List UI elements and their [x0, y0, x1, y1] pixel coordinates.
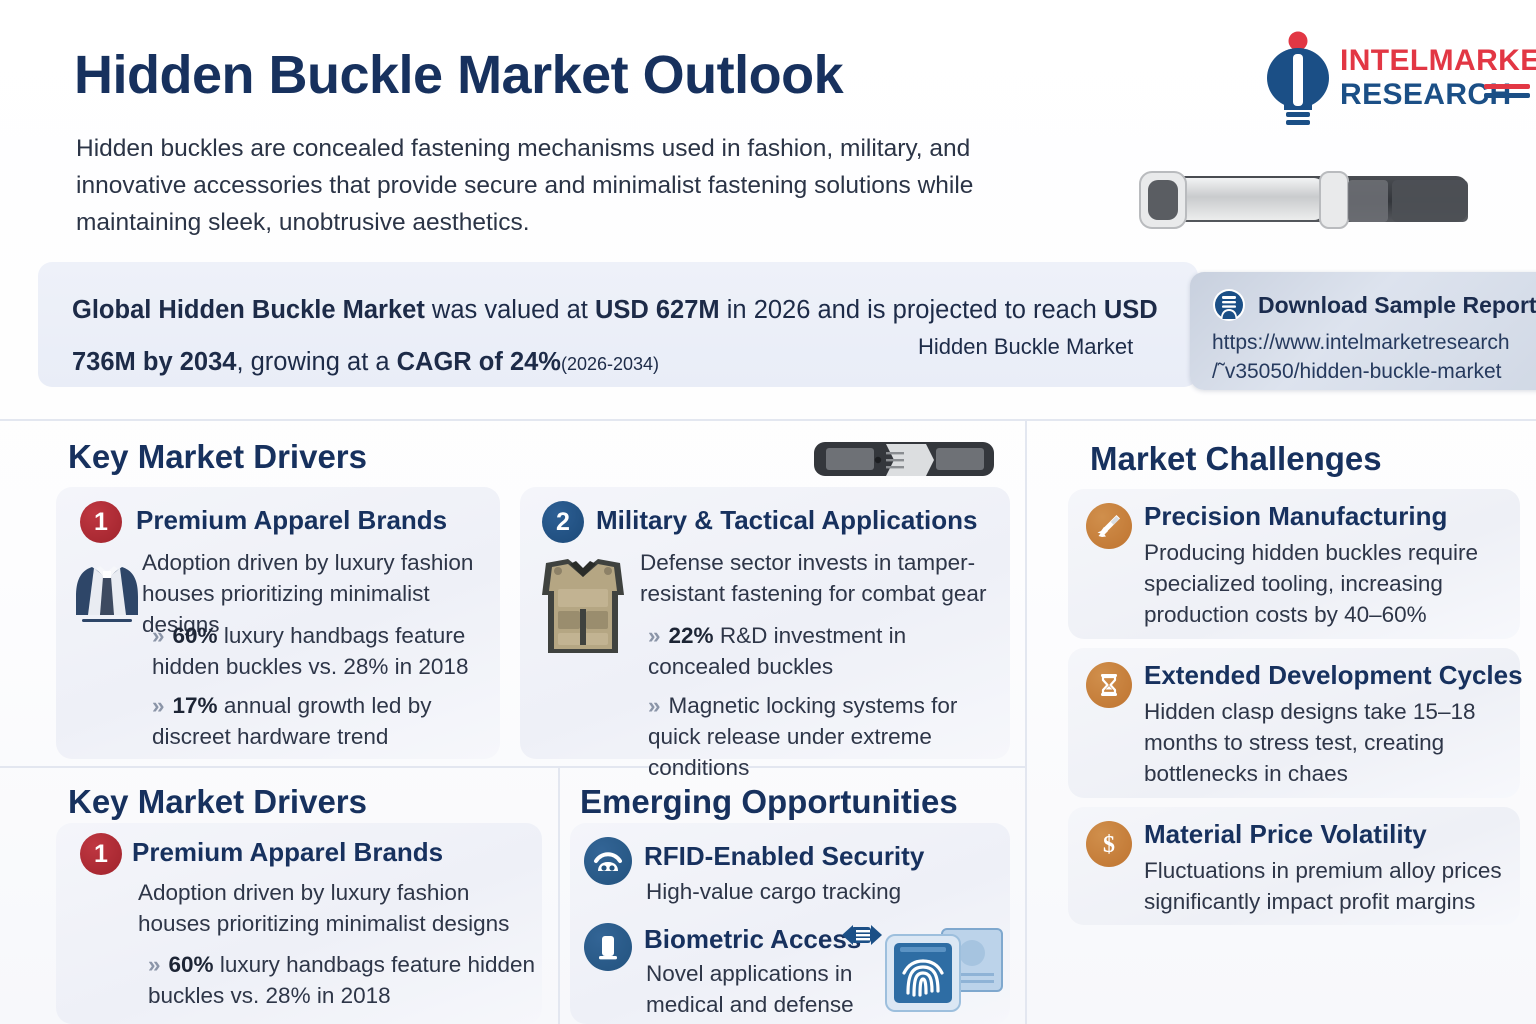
market-value-banner: Global Hidden Buckle Market was valued a… [38, 262, 1198, 387]
section-heading-market-challenges: Market Challenges [1090, 440, 1382, 478]
report-url-line-2: /˜v35050/hidden-buckle-market [1212, 357, 1510, 386]
chevron-right-icon: » [152, 693, 165, 718]
banner-market-name: Global Hidden Buckle Market [72, 296, 425, 324]
divider-vertical-bottom [558, 768, 560, 1024]
page-title: Hidden Buckle Market Outlook [74, 44, 843, 106]
banner-value-2026: USD 627M [595, 296, 720, 324]
chevron-right-icon: » [152, 623, 165, 648]
page-subtitle: Hidden buckles are concealed fastening m… [76, 130, 1061, 241]
opportunities-card[interactable]: RFID-Enabled Security High-value cargo t… [570, 823, 1010, 1024]
challenge-body-1: Producing hidden buckles require special… [1144, 537, 1516, 630]
driver-bullet-2-1-value: 22% [669, 623, 714, 648]
mobile-device-icon [584, 923, 632, 971]
download-header[interactable]: Download Sample Report [1212, 288, 1536, 322]
section-heading-key-market-drivers-bottom: Key Market Drivers [68, 783, 367, 821]
challenge-title-3: Material Price Volatility [1144, 819, 1427, 850]
challenge-card-1[interactable]: Precision Manufacturing Producing hidden… [1068, 489, 1520, 639]
driver-title-1: Premium Apparel Brands [136, 505, 447, 536]
driver-bullet-2-2: »Magnetic locking systems for quick rele… [648, 690, 1000, 783]
divider-vertical-right [1025, 419, 1027, 1024]
challenge-card-2[interactable]: Extended Development Cycles Hidden clasp… [1068, 648, 1520, 798]
fingerprint-id-card-icon [880, 923, 1008, 1019]
divider-horizontal-top [0, 419, 1536, 421]
logo-line-1: INTELMARKET [1340, 44, 1536, 78]
opportunity-title-2: Biometric Access [644, 924, 861, 955]
opportunity-body-2: Novel applications in medical and defens… [646, 958, 866, 1020]
challenge-body-3: Fluctuations in premium alloy prices sig… [1144, 855, 1516, 917]
tactical-belt-photo [808, 434, 1000, 486]
section-heading-key-market-drivers-top: Key Market Drivers [68, 438, 367, 476]
chevron-right-icon: » [648, 693, 661, 718]
download-document-icon [1212, 288, 1246, 322]
logo-bars-icon [1484, 84, 1530, 102]
report-url-line-1: https://www.intelmarketresearch [1212, 328, 1510, 357]
driver-card-1[interactable]: 1 Premium Apparel Brands Adoption driven… [56, 487, 500, 759]
section-heading-emerging-opportunities: Emerging Opportunities [580, 783, 958, 821]
challenge-title-1: Precision Manufacturing [1144, 501, 1447, 532]
download-label: Download Sample Report [1258, 292, 1536, 319]
challenge-title-2: Extended Development Cycles [1144, 660, 1523, 691]
banner-text-3: reach [1033, 296, 1104, 324]
banner-text-1: was valued at [425, 296, 595, 324]
challenge-card-3[interactable]: $ Material Price Volatility Fluctuations… [1068, 807, 1520, 925]
driver-bullet-bottom-1-1-value: 60% [169, 952, 214, 977]
challenge-body-2: Hidden clasp designs take 15–18 months t… [1144, 696, 1516, 789]
download-sample-report-box[interactable]: Download Sample Report https://www.intel… [1190, 272, 1536, 390]
intelmarket-research-logo: INTELMARKET RESEARCH [1252, 28, 1528, 132]
opportunity-body-1: High-value cargo tracking [646, 876, 976, 907]
driver-bullet-1-2: »17% annual growth led by discreet hardw… [152, 690, 498, 752]
hourglass-icon [1086, 662, 1132, 708]
dollar-icon: $ [1086, 821, 1132, 867]
banner-text-2: in 2026 and is projected to [720, 296, 1026, 324]
wrench-icon [1086, 503, 1132, 549]
report-url[interactable]: https://www.intelmarketresearch /˜v35050… [1212, 328, 1510, 386]
banner-text-4: , growing at a [236, 348, 396, 376]
tactical-vest-icon [538, 555, 628, 661]
driver-card-2[interactable]: 2 Military & Tactical Applications Defen… [520, 487, 1010, 759]
driver-title-bottom-1: Premium Apparel Brands [132, 837, 443, 868]
hidden-buckle-belt-photo [1124, 158, 1480, 250]
svg-text:$: $ [1103, 832, 1115, 858]
infographic-page: Hidden Buckle Market Outlook Hidden buck… [0, 0, 1536, 1024]
driver-card-bottom-1[interactable]: 1 Premium Apparel Brands Adoption driven… [56, 823, 542, 1024]
driver-badge-1: 1 [80, 501, 122, 543]
banner-market-tag: Hidden Buckle Market [918, 334, 1133, 360]
rfid-signal-icon [584, 837, 632, 885]
lightbulb-icon [1260, 30, 1336, 130]
driver-badge-bottom-1: 1 [80, 833, 122, 875]
driver-bullet-bottom-1-1: »60% luxury handbags feature hidden buck… [148, 949, 544, 1011]
driver-bullet-1-2-value: 17% [173, 693, 218, 718]
chevron-right-icon: » [648, 623, 661, 648]
driver-bullet-2-1: »22% R&D investment in concealed buckles [648, 620, 988, 682]
driver-desc-2: Defense sector invests in tamper-resista… [640, 547, 992, 609]
driver-desc-bottom-1: Adoption driven by luxury fashion houses… [138, 877, 538, 939]
chevron-right-icon: » [148, 952, 161, 977]
banner-cagr: CAGR of 24% [397, 348, 561, 376]
opportunity-title-1: RFID-Enabled Security [644, 841, 924, 872]
driver-bullet-2-2-text: Magnetic locking systems for quick relea… [648, 693, 957, 780]
driver-bullet-1-1: »60% luxury handbags feature hidden buck… [152, 620, 498, 682]
driver-title-2: Military & Tactical Applications [596, 505, 977, 536]
driver-bullet-1-1-value: 60% [173, 623, 218, 648]
banner-period: (2026-2034) [561, 354, 659, 374]
suit-jacket-icon [70, 553, 144, 627]
access-arrow-icon [840, 921, 884, 949]
driver-badge-2: 2 [542, 501, 584, 543]
